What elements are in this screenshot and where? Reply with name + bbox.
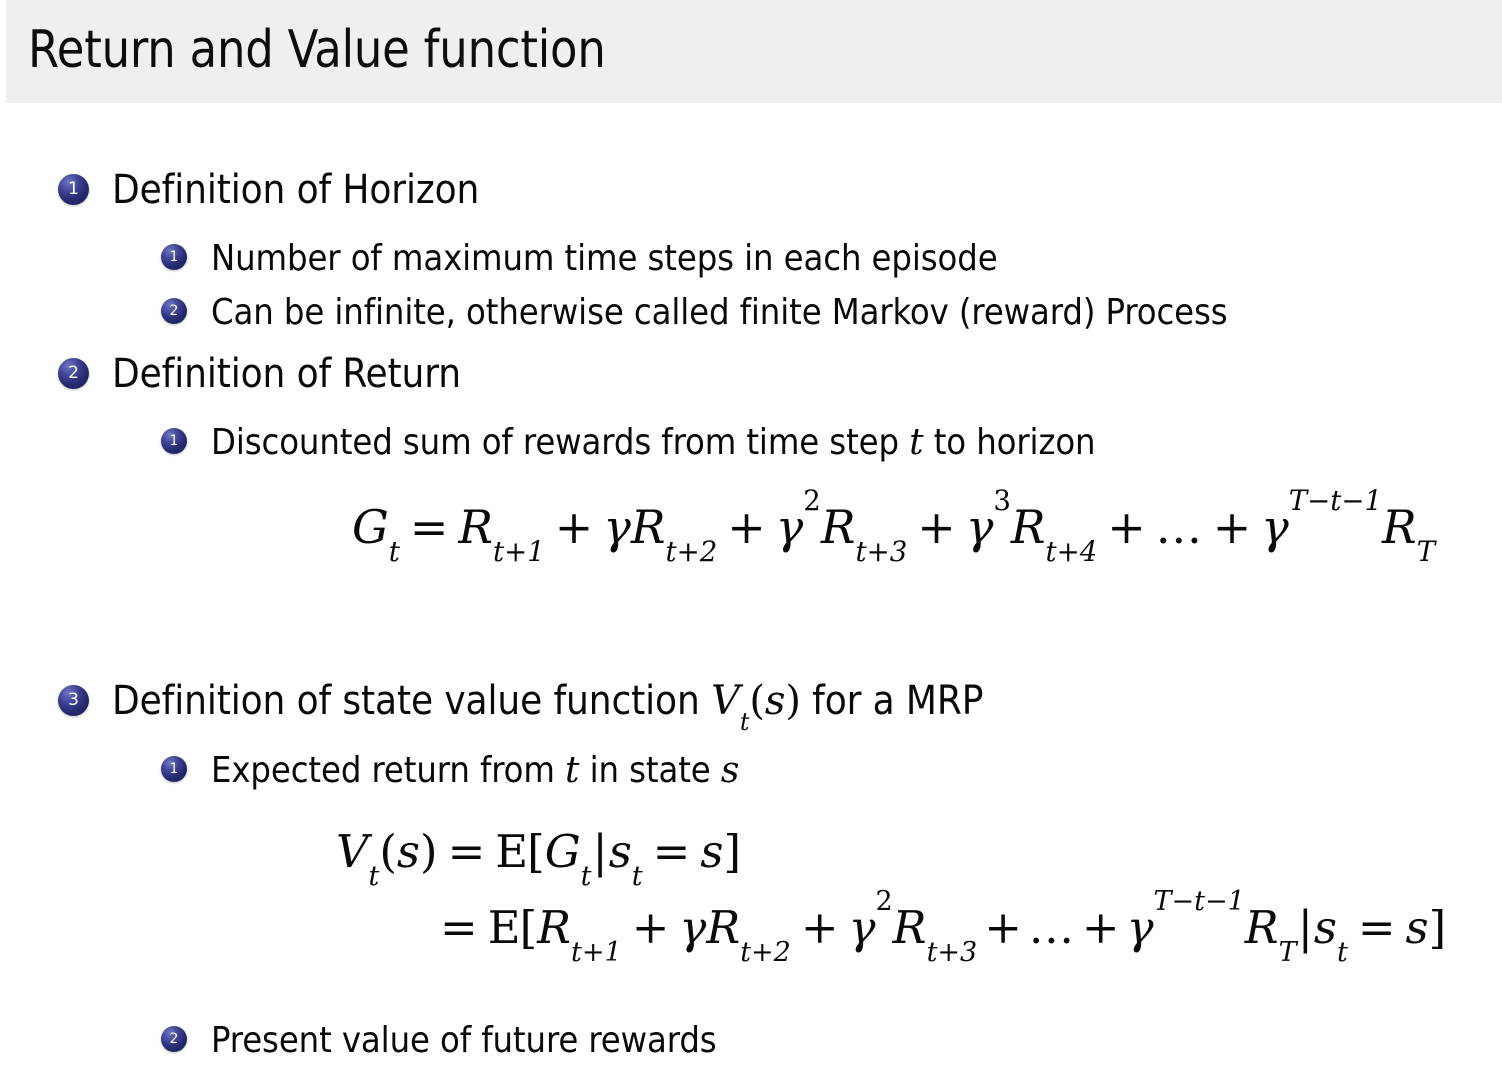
list-item-label: Present value of future rewards xyxy=(211,1018,717,1063)
eq-token-equals: = xyxy=(1348,901,1406,954)
enumerate-ball-icon: 2 xyxy=(58,358,89,389)
slide: Return and Value function 1 Definition o… xyxy=(0,0,1502,1080)
eq-token-bar: | xyxy=(592,825,609,878)
enumerate-ball-icon: 1 xyxy=(161,244,187,270)
list-item-label-post: to horizon xyxy=(924,422,1096,463)
eq-token-gamma: γ xyxy=(603,500,631,554)
eq-token-ellipsis: ... xyxy=(1029,901,1075,954)
eq-token-plus: + xyxy=(791,901,849,954)
eq-sub-t3: t+3 xyxy=(856,535,908,568)
eq-sub-t: t xyxy=(389,535,400,568)
enumerate-ball-icon: 2 xyxy=(161,298,187,324)
list-item-label: Definition of state value function Vt(s)… xyxy=(112,676,983,726)
equation-return: Gt=Rt+1+γRt+2+γ2Rt+3+γ3Rt+4+...+γT−t−1RT xyxy=(352,500,1435,554)
eq-token-lparen: ( xyxy=(379,825,397,878)
eq-token-plus: + xyxy=(1075,901,1127,954)
eq-token-s: s xyxy=(1314,901,1337,954)
eq-token-rbracket: ] xyxy=(1429,901,1447,954)
eq-token-s: s xyxy=(397,825,420,878)
eq-sub-T: T xyxy=(1417,535,1435,568)
eq-token-R: R xyxy=(1011,500,1046,554)
enumerate-ball-icon: 1 xyxy=(58,174,89,205)
list-item[interactable]: 2 Can be infinite, otherwise called fini… xyxy=(161,290,1228,335)
list-item-label-mid: in state xyxy=(579,750,720,791)
eq-token-gamma: γ xyxy=(679,901,706,954)
list-item-label: Expected return from t in state s xyxy=(211,748,739,793)
list-item[interactable]: 1 Number of maximum time steps in each e… xyxy=(161,236,998,281)
eq-token-gamma: γ xyxy=(1127,901,1154,954)
eq-token-plus: + xyxy=(1203,500,1262,554)
enumerate-ball-icon: 1 xyxy=(161,428,187,454)
eq-token-plus: + xyxy=(717,500,776,554)
eq-token-equals: = xyxy=(643,825,701,878)
list-item-label: Can be infinite, otherwise called finite… xyxy=(211,290,1228,335)
list-item-label-pre: Definition of state value function xyxy=(112,678,711,724)
eq-token-plus: + xyxy=(1097,500,1156,554)
list-item-label: Definition of Return xyxy=(112,349,461,399)
eq-exp-2: 2 xyxy=(803,484,821,517)
frame-title-bar: Return and Value function xyxy=(0,0,1502,103)
eq-token-equals: = xyxy=(400,500,459,554)
eq-token-R: R xyxy=(706,901,740,954)
eq-token-s: s xyxy=(1406,901,1429,954)
eq-token-rparen: ) xyxy=(420,825,438,878)
eq-token-R: R xyxy=(821,500,856,554)
eq-token-expectation: E xyxy=(488,901,520,954)
eq-token-V: V xyxy=(336,825,369,878)
eq-token-gamma: γ xyxy=(966,500,994,554)
eq-token-plus: + xyxy=(622,901,680,954)
list-item-label: Definition of Horizon xyxy=(112,165,479,215)
eq-token-rbracket: ] xyxy=(723,825,741,878)
eq-sub-t: t xyxy=(1337,937,1348,968)
eq-token-R: R xyxy=(1245,901,1279,954)
enumerate-ball-icon: 1 xyxy=(161,756,187,782)
list-item-label: Number of maximum time steps in each epi… xyxy=(211,236,998,281)
eq-token-bar: | xyxy=(1297,901,1314,954)
equation-value-line1: Vt(s)=E[Gt|st=s] xyxy=(336,825,741,878)
eq-token-expectation: E xyxy=(495,825,527,878)
eq-token-R: R xyxy=(1382,500,1417,554)
eq-token-gamma: γ xyxy=(1261,500,1289,554)
eq-token-s: s xyxy=(609,825,632,878)
enumerate-ball-icon: 2 xyxy=(161,1026,187,1052)
enumerate-ball-icon: 3 xyxy=(58,685,89,716)
list-item-label-post: for a MRP xyxy=(801,678,984,724)
eq-token-R: R xyxy=(458,500,493,554)
eq-sub-t: t xyxy=(632,861,643,892)
eq-token-lbracket: [ xyxy=(527,825,545,878)
inline-math-s: s xyxy=(721,750,739,791)
eq-token-gamma: γ xyxy=(849,901,876,954)
eq-sub-t1: t+1 xyxy=(571,937,622,968)
eq-token-ellipsis: ... xyxy=(1156,500,1203,554)
eq-exp-Tt1: T−t−1 xyxy=(1289,484,1382,517)
eq-sub-t2: t+2 xyxy=(740,937,791,968)
eq-token-R: R xyxy=(893,901,927,954)
list-item[interactable]: 2 Present value of future rewards xyxy=(161,1018,717,1063)
eq-sub-t2: t+2 xyxy=(665,535,717,568)
eq-token-G: G xyxy=(352,500,389,554)
eq-token-plus: + xyxy=(977,901,1029,954)
list-item-label-pre: Expected return from xyxy=(211,750,565,791)
inline-math-t: t xyxy=(909,422,923,463)
eq-exp-3: 3 xyxy=(993,484,1011,517)
eq-exp-2: 2 xyxy=(875,886,892,917)
list-item[interactable]: 1 Definition of Horizon xyxy=(58,165,479,215)
eq-token-equals: = xyxy=(438,825,496,878)
eq-sub-t: t xyxy=(369,861,380,892)
equation-value-line2: =E[Rt+1+γRt+2+γ2Rt+3+...+γT−t−1RT|st=s] xyxy=(440,901,1446,954)
eq-token-plus: + xyxy=(545,500,604,554)
list-item[interactable]: 1 Discounted sum of rewards from time st… xyxy=(161,420,1096,465)
list-item[interactable]: 3 Definition of state value function Vt(… xyxy=(58,676,983,726)
list-item-label-pre: Discounted sum of rewards from time step xyxy=(211,422,909,463)
eq-sub-t: t xyxy=(581,861,592,892)
list-item[interactable]: 2 Definition of Return xyxy=(58,349,461,399)
slide-body: 1 Definition of Horizon 1 Number of maxi… xyxy=(0,103,1502,1080)
eq-exp-Tt1: T−t−1 xyxy=(1153,886,1244,917)
eq-token-gamma: γ xyxy=(776,500,804,554)
page-title: Return and Value function xyxy=(28,14,606,86)
eq-sub-t4: t+4 xyxy=(1046,535,1098,568)
eq-sub-t3: t+3 xyxy=(927,937,978,968)
inline-math-t: t xyxy=(565,750,579,791)
inline-math-Vts: Vt(s) xyxy=(711,678,801,724)
eq-token-R: R xyxy=(631,500,666,554)
eq-token-s: s xyxy=(700,825,723,878)
eq-token-lbracket: [ xyxy=(520,901,538,954)
eq-token-plus: + xyxy=(907,500,966,554)
eq-token-R: R xyxy=(537,901,571,954)
eq-token-equals: = xyxy=(440,901,488,954)
list-item-label: Discounted sum of rewards from time step… xyxy=(211,420,1096,465)
eq-sub-t1: t+1 xyxy=(493,535,545,568)
eq-token-G: G xyxy=(545,825,581,878)
list-item[interactable]: 1 Expected return from t in state s xyxy=(161,748,739,793)
eq-sub-T: T xyxy=(1279,937,1297,968)
